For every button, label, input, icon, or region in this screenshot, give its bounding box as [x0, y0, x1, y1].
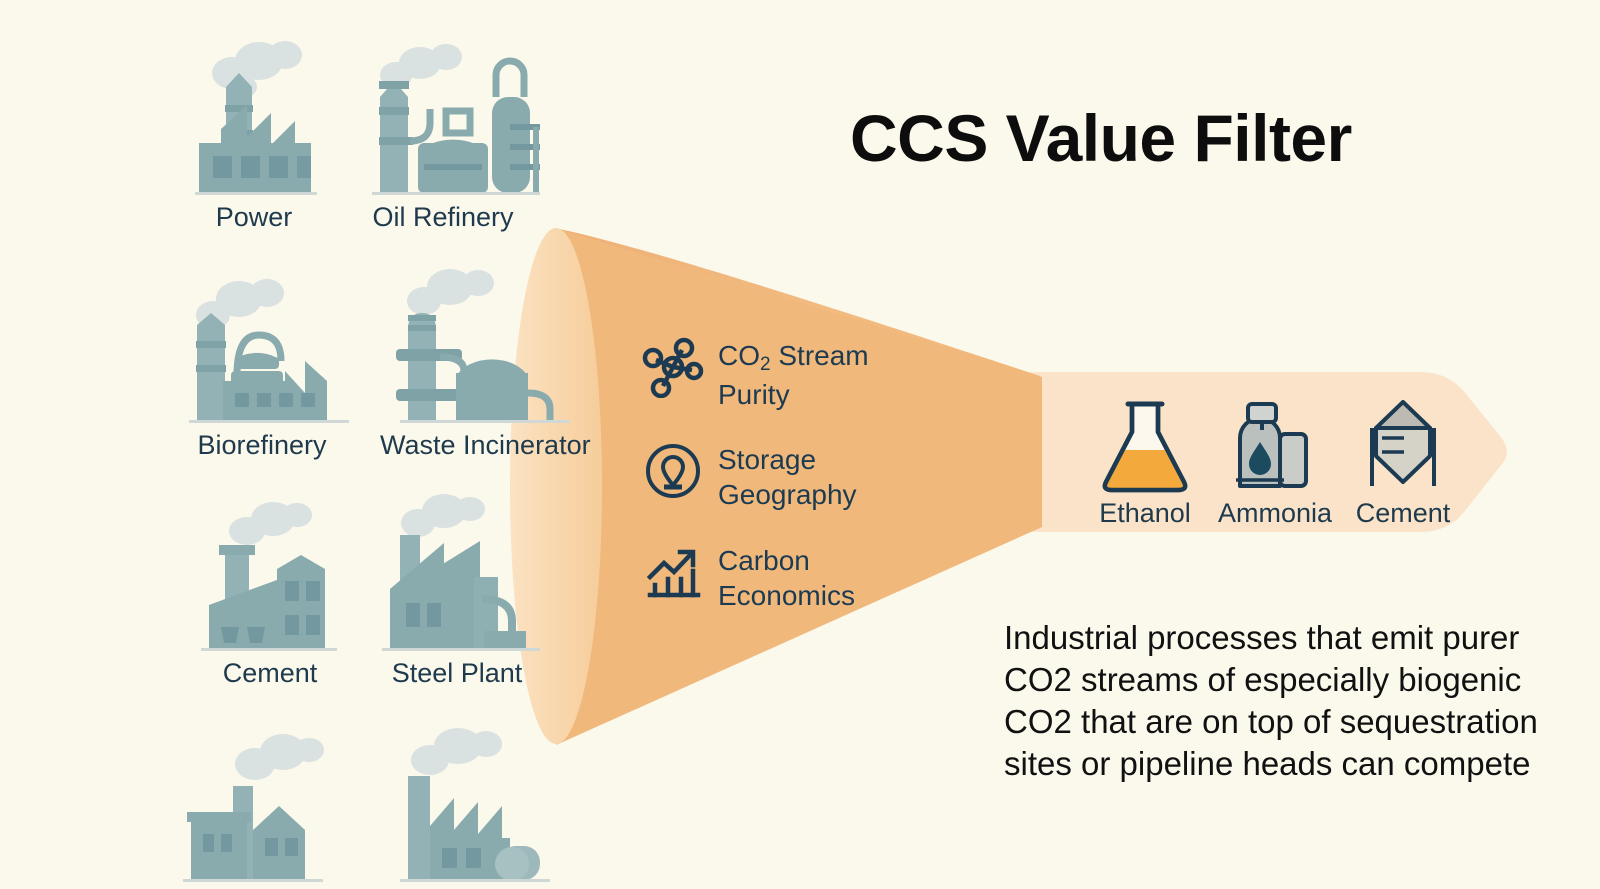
- infographic-canvas: Power: [0, 0, 1600, 889]
- caption-text: Industrial processes that emit purer CO2…: [1004, 617, 1564, 785]
- text-layer: CCS Value Filter Industrial processes th…: [0, 0, 1600, 889]
- page-title: CCS Value Filter: [850, 100, 1352, 176]
